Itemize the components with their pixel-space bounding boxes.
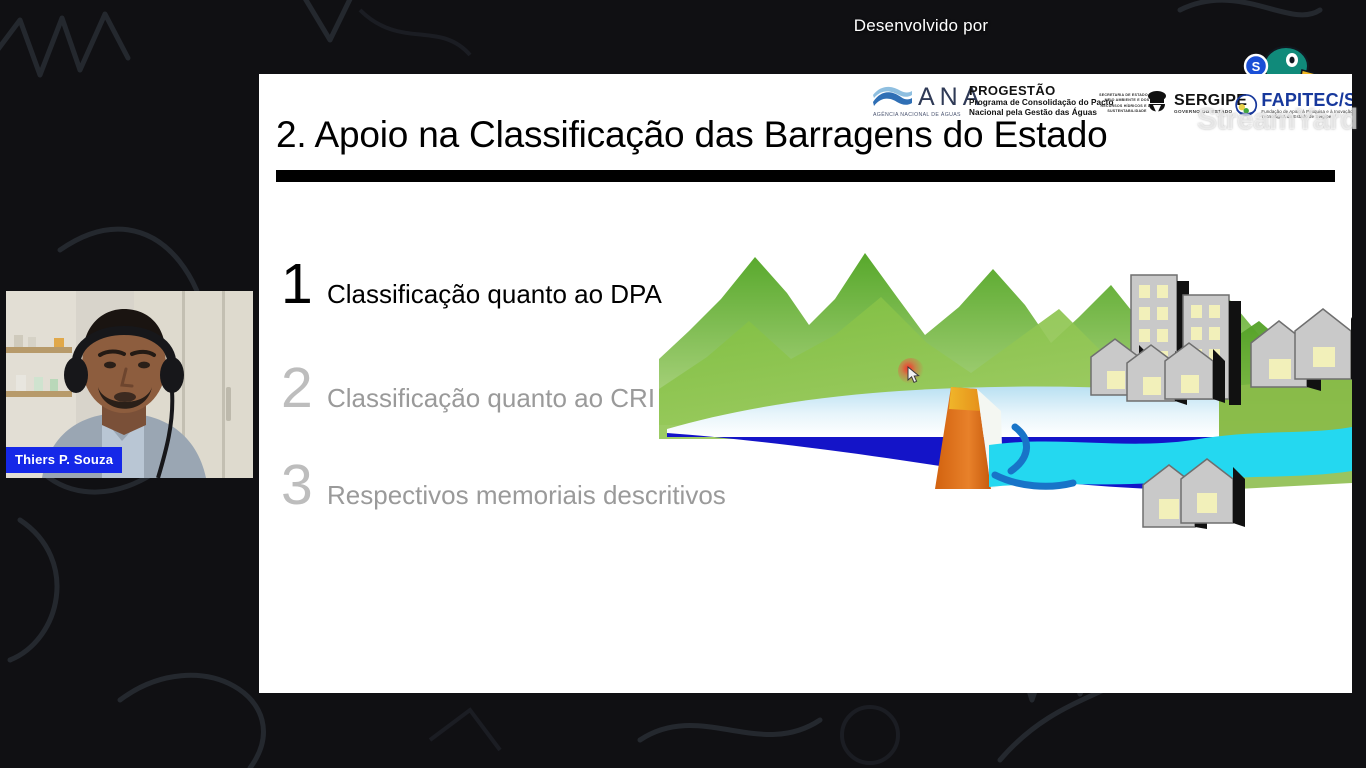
mascot-badge-letter: S bbox=[1252, 59, 1261, 74]
fapitec-mark-icon bbox=[1234, 88, 1258, 122]
sergipe-logo: SERGIPE GOVERNO DO ESTADO bbox=[1144, 88, 1247, 118]
progestao-title: PROGESTÃO bbox=[969, 83, 1114, 98]
fapitec-wordmark: FAPITEC/SE bbox=[1261, 91, 1352, 109]
participant-name-badge: Thiers P. Souza bbox=[6, 447, 122, 473]
list-item-number: 2 bbox=[281, 360, 327, 417]
fapitec-logo: FAPITEC/SE Fundação de Apoio à Pesquisa … bbox=[1234, 88, 1352, 122]
page-title: 2. Apoio na Classificação das Barragens … bbox=[276, 114, 1107, 156]
progestao-line1: Programa de Consolidação do Pacto bbox=[969, 98, 1114, 108]
list-item-number: 1 bbox=[281, 256, 327, 313]
ana-logo: ANA bbox=[871, 84, 984, 110]
ana-wave-icon bbox=[871, 84, 913, 110]
fapitec-tagline: Fundação de Apoio à Pesquisa e à Inovaçã… bbox=[1261, 109, 1352, 119]
sergipe-crest-icon bbox=[1144, 88, 1170, 118]
title-underline-rule bbox=[276, 170, 1335, 182]
list-item-label: Classificação quanto ao CRI bbox=[327, 385, 655, 411]
list-item[interactable]: 3 Respectivos memoriais descritivos bbox=[281, 457, 726, 514]
shared-slide: ANA AGÊNCIA NACIONAL DE ÁGUAS PROGESTÃO … bbox=[259, 74, 1352, 693]
list-item-number: 3 bbox=[281, 457, 327, 514]
list-item-label: Respectivos memoriais descritivos bbox=[327, 482, 726, 508]
list-item[interactable]: 2 Classificação quanto ao CRI bbox=[281, 360, 655, 417]
list-item[interactable]: 1 Classificação quanto ao DPA bbox=[281, 256, 662, 313]
dam-illustration bbox=[659, 239, 1352, 529]
list-item-label: Classificação quanto ao DPA bbox=[327, 281, 662, 307]
